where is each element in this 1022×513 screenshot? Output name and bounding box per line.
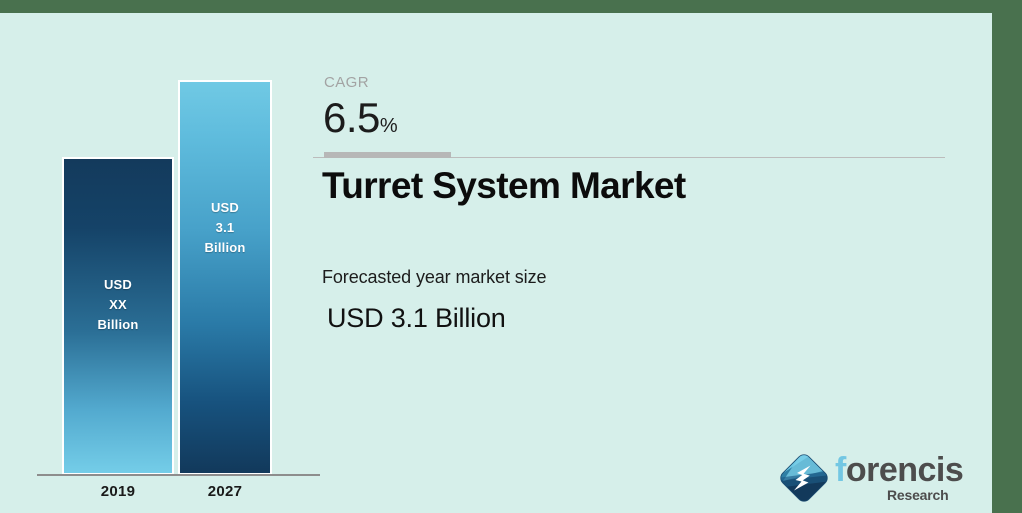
cagr-value: 6.5% (323, 94, 398, 150)
cagr-label: CAGR (324, 74, 369, 91)
forencis-subtitle: Research (887, 487, 948, 503)
bar-2019-label-wrap: USD XX Billion (64, 159, 172, 473)
bar-2019-value: XX (97, 295, 138, 315)
chart-axis-line (37, 474, 320, 476)
bar-2027-label-wrap: USD 3.1 Billion (180, 82, 270, 473)
bar-2027-label: USD 3.1 Billion (204, 198, 245, 258)
slide-content: USD XX Billion USD 3.1 Billion 2019 2 (0, 13, 992, 513)
slide-canvas: USD XX Billion USD 3.1 Billion 2019 2 (0, 0, 1022, 513)
info-panel: CAGR 6.5% Turret System Market Forecaste… (313, 13, 973, 513)
top-frame-band (0, 0, 1022, 13)
bar-2027: USD 3.1 Billion (178, 80, 272, 475)
bar-2027-value: 3.1 (204, 218, 245, 238)
right-frame-band (992, 0, 1022, 513)
bar-2019-currency: USD (97, 275, 138, 295)
forencis-logo: forencis Research (777, 447, 952, 509)
cagr-percent-sign: % (380, 115, 398, 137)
forencis-diamond-icon (777, 451, 831, 505)
forencis-wordmark-lead: f (835, 451, 846, 489)
axis-tick-2019: 2019 (62, 483, 174, 500)
bar-2027-unit: Billion (204, 238, 245, 258)
cagr-number: 6.5 (323, 94, 380, 141)
bar-2019-unit: Billion (97, 315, 138, 335)
bar-2019: USD XX Billion (62, 157, 174, 475)
panel-divider-accent (324, 152, 451, 158)
forecast-caption: Forecasted year market size (322, 267, 546, 288)
bar-2027-currency: USD (204, 198, 245, 218)
bar-chart: USD XX Billion USD 3.1 Billion 2019 2 (0, 13, 330, 513)
forencis-wordmark: forencis (835, 453, 963, 487)
page-title: Turret System Market (322, 165, 686, 207)
axis-tick-2027: 2027 (178, 483, 272, 500)
forecast-value: USD 3.1 Billion (327, 303, 506, 334)
bar-2019-label: USD XX Billion (97, 275, 138, 335)
forencis-wordmark-rest: orencis (846, 451, 963, 489)
